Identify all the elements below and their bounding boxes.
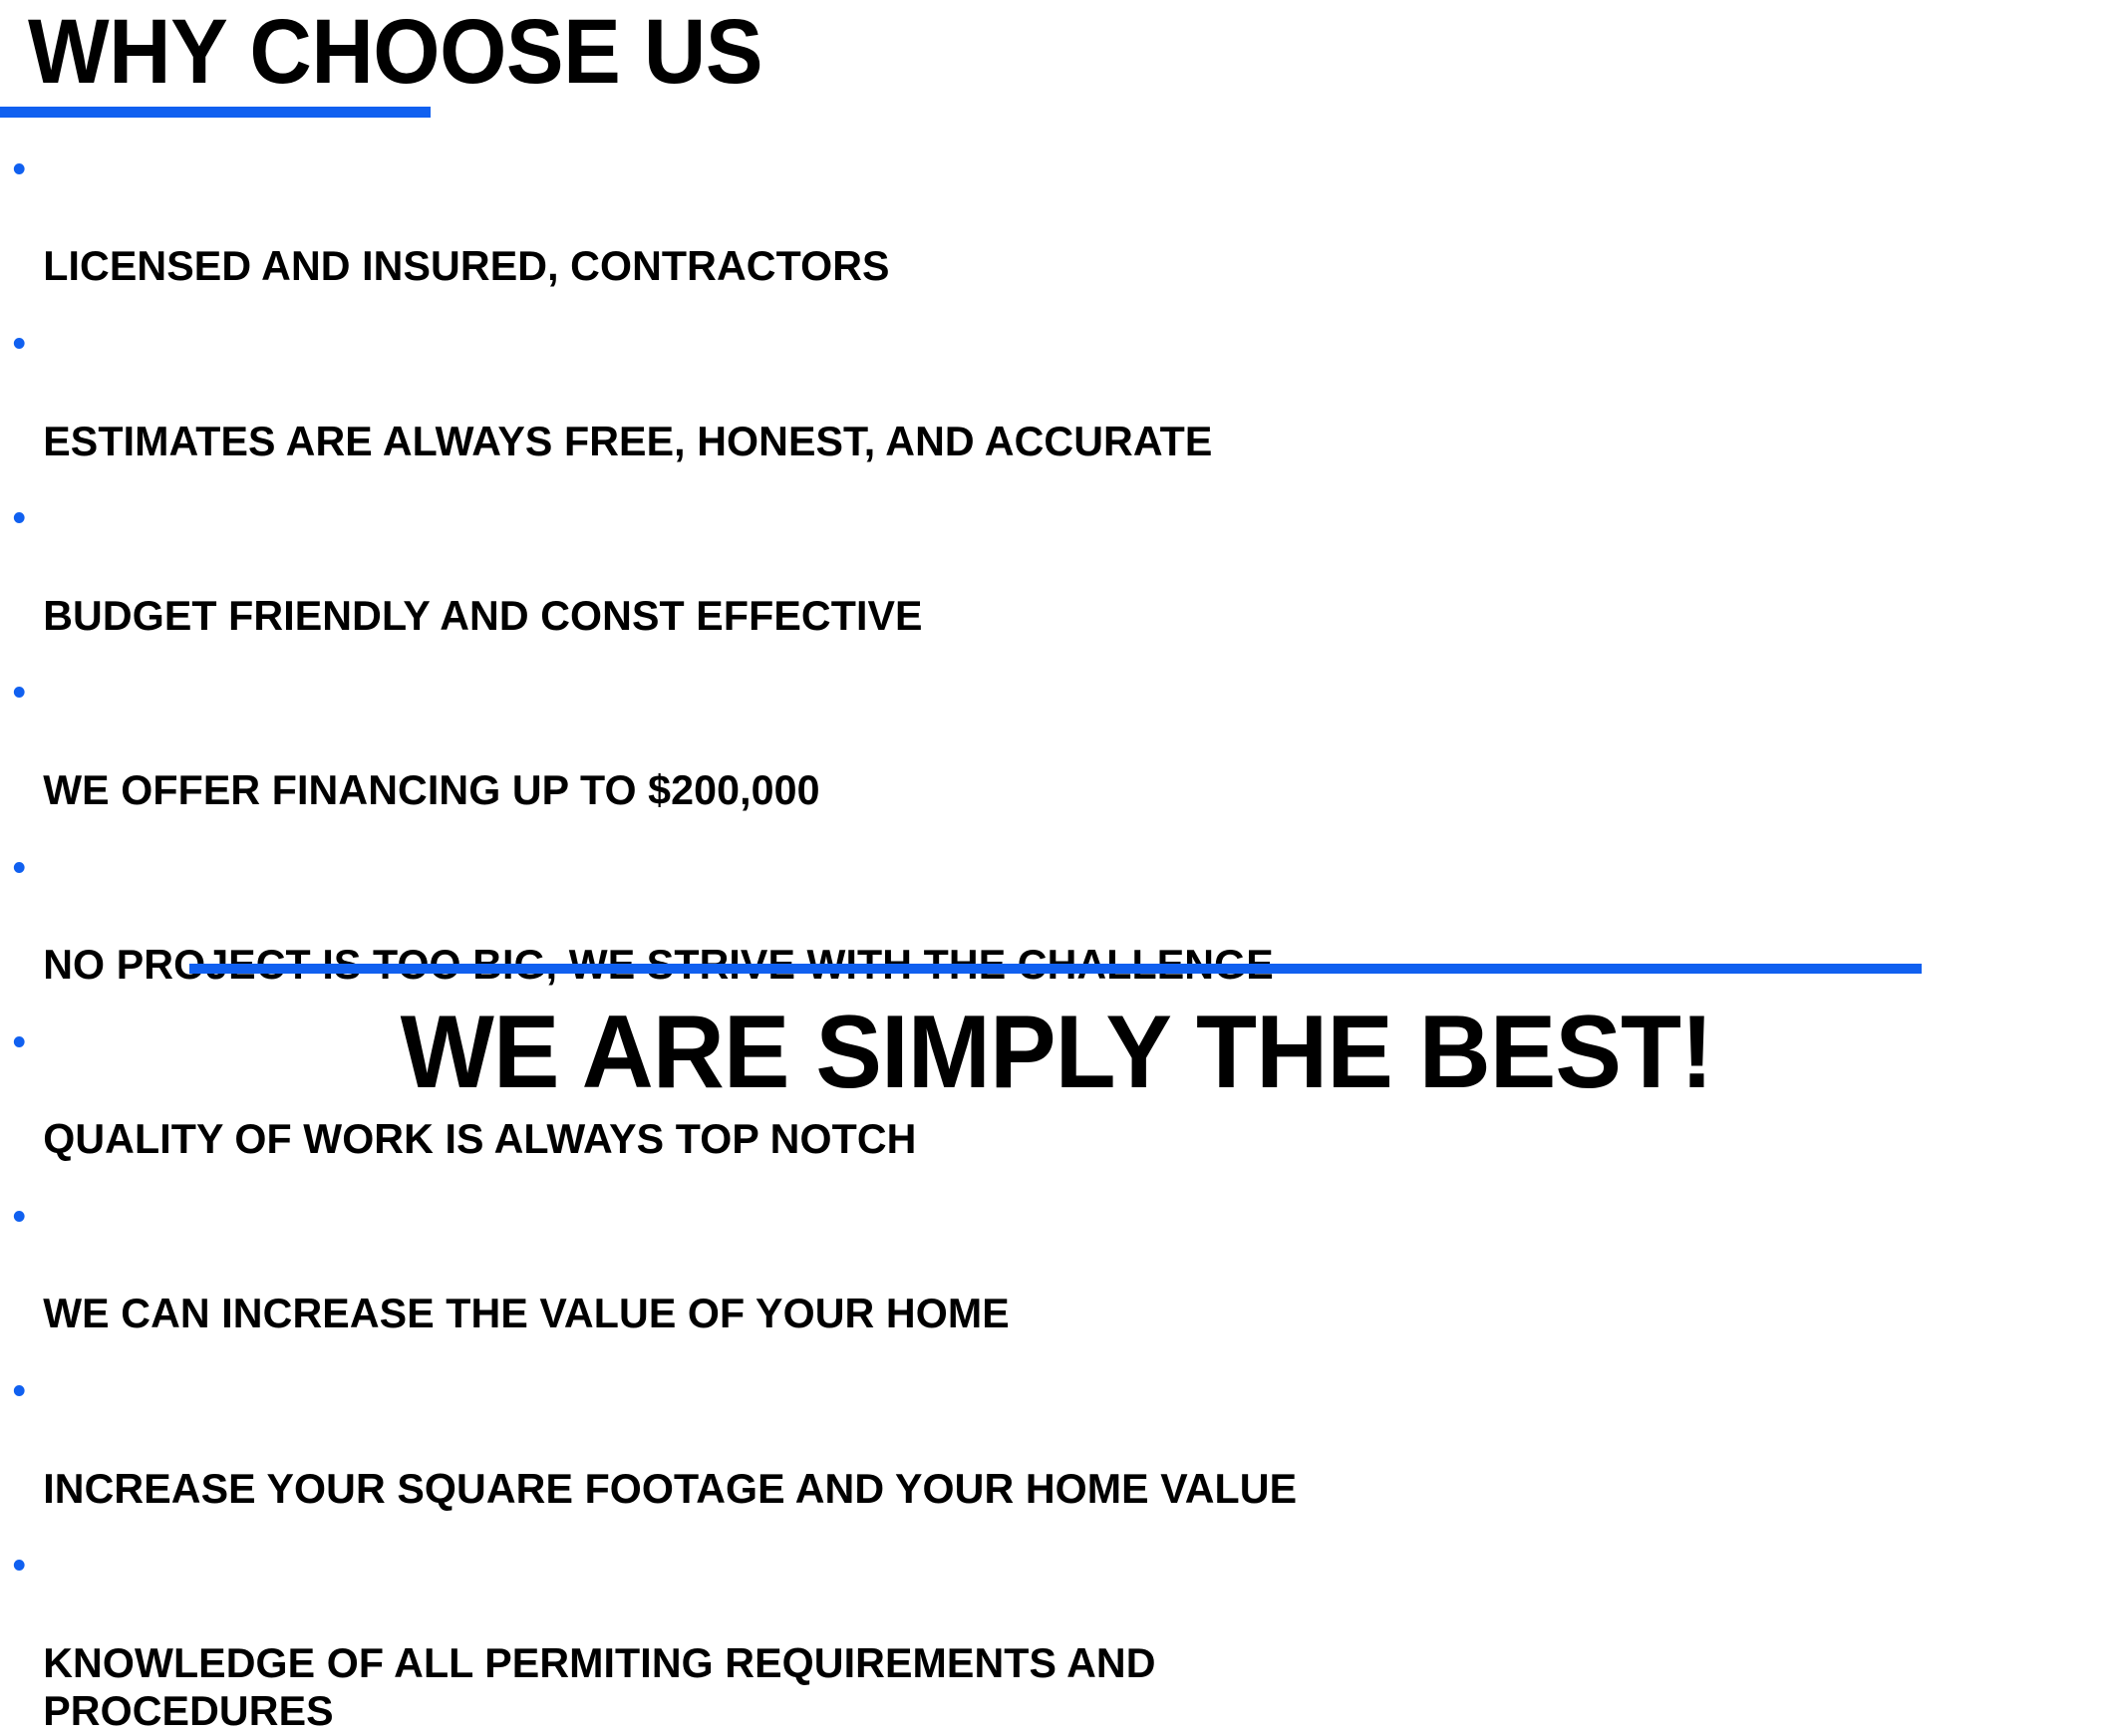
bullet-dot-icon [14,163,25,174]
bullet-dot-icon [14,1211,25,1222]
list-item: WE OFFER FINANCING UP TO $200,000 [6,669,1960,814]
list-item-label: QUALITY OF WORK IS ALWAYS TOP NOTCH [43,1115,916,1162]
list-item-label: BUDGET FRIENDLY AND CONST EFFECTIVE [43,592,922,639]
list-item-label: KNOWLEDGE OF ALL PERMITING REQUIREMENTS … [43,1639,1155,1735]
list-item: INCREASE YOUR SQUARE FOOTAGE AND YOUR HO… [6,1367,1960,1513]
list-item-label: ESTIMATES ARE ALWAYS FREE, HONEST, AND A… [43,418,1212,464]
bullet-dot-icon [14,862,25,873]
bullet-dot-icon [14,687,25,698]
slide-canvas: WHY CHOOSE US LICENSED AND INSURED, CONT… [0,0,2113,1188]
list-item-label: LICENSED AND INSURED, CONTRACTORS [43,242,889,289]
title-underline-rule [0,107,431,118]
title-block: WHY CHOOSE US [0,6,1196,100]
list-item: WE CAN INCREASE THE VALUE OF YOUR HOME [6,1193,1960,1338]
list-item-label: INCREASE YOUR SQUARE FOOTAGE AND YOUR HO… [43,1465,1297,1512]
bullet-dot-icon [14,1560,25,1571]
benefits-bullet-list: LICENSED AND INSURED, CONTRACTORS ESTIMA… [6,145,1999,1736]
bottom-divider-rule [189,964,1922,974]
list-item-label: WE CAN INCREASE THE VALUE OF YOUR HOME [43,1290,1010,1336]
bullet-dot-icon [14,1385,25,1396]
page-title: WHY CHOOSE US [28,6,1126,100]
bullet-dot-icon [14,512,25,523]
list-item-label: WE OFFER FINANCING UP TO $200,000 [43,766,819,813]
list-item: BUDGET FRIENDLY AND CONST EFFECTIVE [6,494,1960,640]
list-item: KNOWLEDGE OF ALL PERMITING REQUIREMENTS … [6,1542,1960,1736]
bullet-dot-icon [14,1036,25,1047]
list-item: ESTIMATES ARE ALWAYS FREE, HONEST, AND A… [6,320,1960,465]
bullet-dot-icon [14,338,25,349]
list-item: LICENSED AND INSURED, CONTRACTORS [6,145,1960,291]
footer-headline: WE ARE SIMPLY THE BEST! [42,999,2070,1107]
